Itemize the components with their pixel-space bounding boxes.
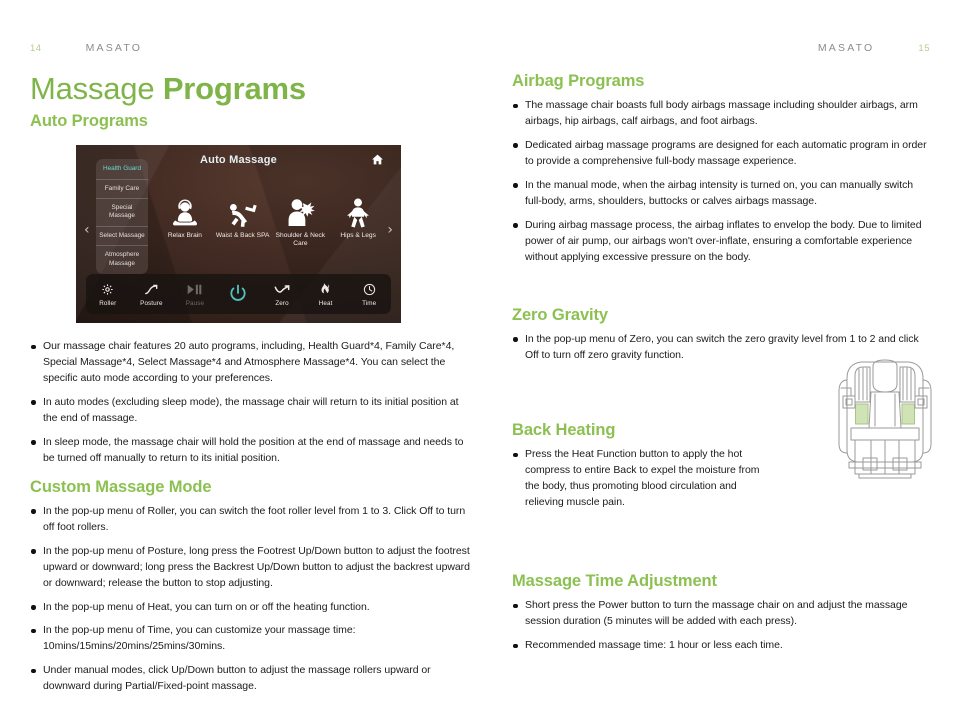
program-label: Shoulder & Neck Care bbox=[272, 232, 330, 248]
auto-programs-heading: Auto Programs bbox=[30, 112, 475, 131]
left-column: Massage Programs Auto Programs Auto Mass… bbox=[30, 72, 475, 703]
shoulder-pain-person-icon bbox=[272, 189, 330, 229]
toolbar-power-button[interactable] bbox=[218, 282, 258, 306]
list-item: Our massage chair features 20 auto progr… bbox=[30, 339, 475, 387]
back-heating-bullet-list: Press the Heat Function button to apply … bbox=[512, 447, 762, 511]
next-page-arrow[interactable]: › bbox=[387, 223, 393, 237]
menu-item-atmosphere-massage[interactable]: Atmosphere Massage bbox=[96, 246, 148, 273]
toolbar-roller-button[interactable]: Roller bbox=[88, 281, 128, 307]
list-item: In the pop-up menu of Time, you can cust… bbox=[30, 623, 475, 655]
page-folio-right: 15 bbox=[918, 43, 930, 54]
play-pause-icon bbox=[175, 281, 215, 298]
power-icon bbox=[218, 282, 258, 304]
toolbar-label: Pause bbox=[175, 300, 215, 307]
list-item: The massage chair boasts full body airba… bbox=[512, 98, 932, 130]
program-relax-brain[interactable]: Relax Brain bbox=[156, 189, 214, 248]
program-list: Relax Brain Waist & Back SPA bbox=[156, 189, 387, 248]
list-item: In auto modes (excluding sleep mode), th… bbox=[30, 395, 475, 427]
program-waist-back-spa[interactable]: Waist & Back SPA bbox=[214, 189, 272, 248]
program-label: Hips & Legs bbox=[329, 232, 387, 240]
toolbar-label: Heat bbox=[306, 300, 346, 307]
flame-icon bbox=[306, 281, 346, 298]
toolbar-posture-button[interactable]: Posture bbox=[131, 281, 171, 307]
program-label: Waist & Back SPA bbox=[214, 232, 272, 240]
program-hips-legs[interactable]: Hips & Legs bbox=[329, 189, 387, 248]
brand-mark-right: MASATO bbox=[818, 42, 875, 54]
menu-item-select-massage[interactable]: Select Massage bbox=[96, 227, 148, 246]
category-menu: Health Guard Family Care Special Massage… bbox=[96, 159, 148, 274]
meditating-person-icon bbox=[156, 189, 214, 229]
clock-icon bbox=[349, 281, 389, 298]
prev-page-arrow[interactable]: ‹ bbox=[84, 223, 90, 237]
running-head-left: 14 MASATO bbox=[30, 42, 142, 54]
list-item: Short press the Power button to turn the… bbox=[512, 598, 932, 630]
toolbar-label: Roller bbox=[88, 300, 128, 307]
airbag-bullet-list: The massage chair boasts full body airba… bbox=[512, 98, 932, 266]
recline-icon bbox=[131, 281, 171, 298]
zero-gravity-heading: Zero Gravity bbox=[512, 306, 932, 325]
program-shoulder-neck-care[interactable]: Shoulder & Neck Care bbox=[272, 189, 330, 248]
standing-person-arrows-icon bbox=[329, 189, 387, 229]
toolbar-label: Posture bbox=[131, 300, 171, 307]
home-icon[interactable] bbox=[371, 153, 384, 171]
list-item: In the pop-up menu of Roller, you can sw… bbox=[30, 504, 475, 536]
brand-mark-left: MASATO bbox=[86, 42, 143, 54]
control-toolbar: Roller Posture bbox=[86, 274, 391, 314]
gear-icon bbox=[88, 281, 128, 298]
list-item: Under manual modes, click Up/Down button… bbox=[30, 663, 475, 695]
toolbar-pause-button[interactable]: Pause bbox=[175, 281, 215, 307]
page-title-light: Massage bbox=[30, 71, 163, 106]
list-item: In sleep mode, the massage chair will ho… bbox=[30, 435, 475, 467]
running-head-right: MASATO 15 bbox=[818, 42, 930, 54]
list-item: Dedicated airbag massage programs are de… bbox=[512, 138, 932, 170]
toolbar-label: Time bbox=[349, 300, 389, 307]
toolbar-time-button[interactable]: Time bbox=[349, 281, 389, 307]
massage-chair-illustration bbox=[824, 358, 946, 482]
control-panel-screenshot: Auto Massage ‹ › Health Guard Family Car… bbox=[76, 145, 401, 323]
massage-time-heading: Massage Time Adjustment bbox=[512, 572, 932, 591]
page-folio-left: 14 bbox=[30, 43, 42, 54]
list-item: Press the Heat Function button to apply … bbox=[512, 447, 762, 511]
page-title: Massage Programs bbox=[30, 72, 475, 106]
auto-programs-bullet-list: Our massage chair features 20 auto progr… bbox=[30, 339, 475, 467]
stretching-person-icon bbox=[214, 189, 272, 229]
menu-item-family-care[interactable]: Family Care bbox=[96, 180, 148, 199]
custom-massage-mode-heading: Custom Massage Mode bbox=[30, 478, 475, 497]
toolbar-heat-button[interactable]: Heat bbox=[306, 281, 346, 307]
list-item: During airbag massage process, the airba… bbox=[512, 218, 932, 266]
list-item: In the manual mode, when the airbag inte… bbox=[512, 178, 932, 210]
menu-item-health-guard[interactable]: Health Guard bbox=[96, 160, 148, 179]
zero-gravity-icon bbox=[262, 281, 302, 298]
toolbar-zero-button[interactable]: Zero bbox=[262, 281, 302, 307]
list-item: Recommended massage time: 1 hour or less… bbox=[512, 638, 932, 654]
toolbar-label: Zero bbox=[262, 300, 302, 307]
list-item: In the pop-up menu of Posture, long pres… bbox=[30, 544, 475, 592]
menu-item-special-massage[interactable]: Special Massage bbox=[96, 199, 148, 227]
page-title-bold: Programs bbox=[163, 71, 306, 106]
airbag-programs-heading: Airbag Programs bbox=[512, 72, 932, 91]
custom-mode-bullet-list: In the pop-up menu of Roller, you can sw… bbox=[30, 504, 475, 696]
massage-time-bullet-list: Short press the Power button to turn the… bbox=[512, 598, 932, 654]
program-label: Relax Brain bbox=[156, 232, 214, 240]
list-item: In the pop-up menu of Heat, you can turn… bbox=[30, 600, 475, 616]
